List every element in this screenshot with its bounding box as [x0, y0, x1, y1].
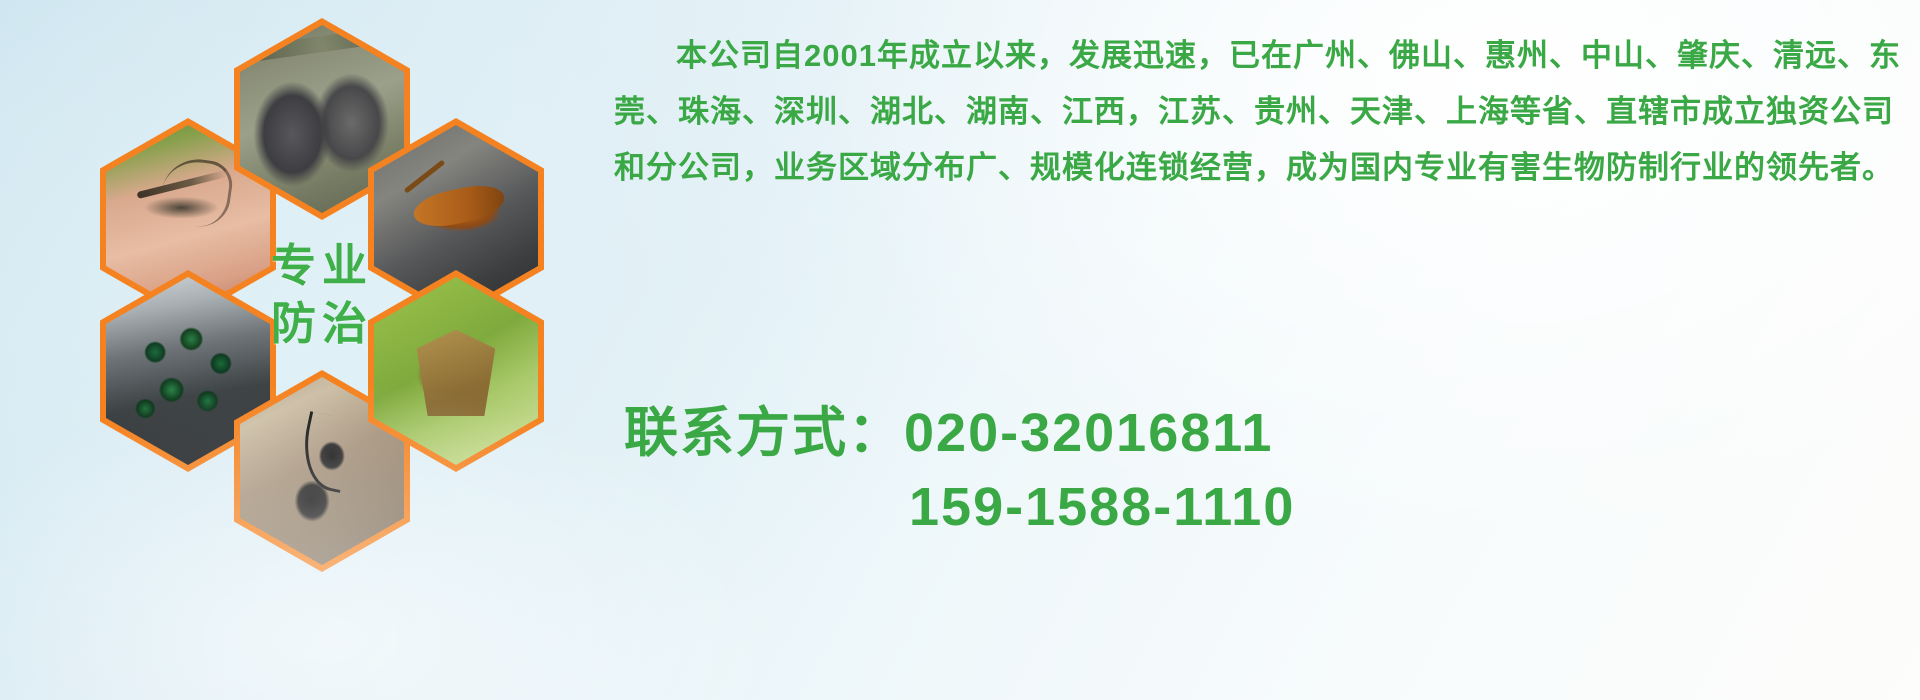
- promo-banner: 专业 防治 本公司自2001年成立以来，发展迅速，已在广州、佛山、惠州、中山、肇…: [0, 0, 1920, 700]
- contact-phone-primary[interactable]: 020-32016811: [904, 403, 1273, 463]
- contact-block: 联系方式：020-32016811 159-1588-1110: [624, 396, 1914, 544]
- center-text-line-1: 专业: [234, 237, 410, 295]
- contact-phone-secondary[interactable]: 159-1588-1110: [624, 470, 1914, 544]
- contact-primary-line: 联系方式：020-32016811: [624, 396, 1914, 470]
- honeycomb-image-cluster: 专业 防治: [100, 8, 600, 578]
- honeycomb-center-text: 专业 防治: [234, 237, 410, 352]
- intro-paragraph-block: 本公司自2001年成立以来，发展迅速，已在广州、佛山、惠州、中山、肇庆、清远、东…: [614, 28, 1914, 196]
- intro-paragraph: 本公司自2001年成立以来，发展迅速，已在广州、佛山、惠州、中山、肇庆、清远、东…: [614, 28, 1914, 196]
- center-text-line-2: 防治: [234, 295, 410, 353]
- contact-label: 联系方式：: [624, 403, 904, 463]
